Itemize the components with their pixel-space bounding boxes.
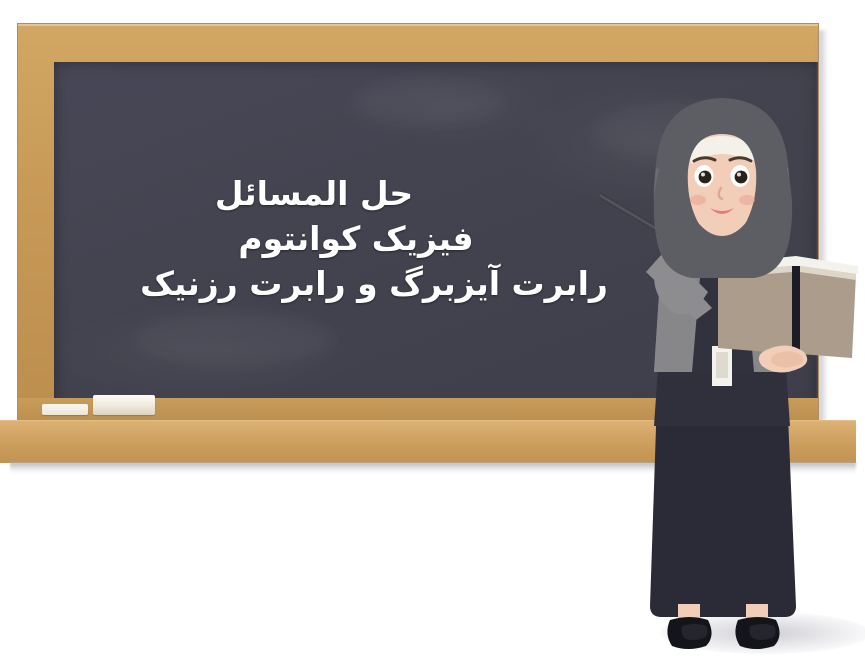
eraser-icon [42,404,88,415]
chalk-smudge [134,312,334,367]
title-line-3: رابرت آیزبرگ و رابرت رزنیک [94,262,654,307]
cover-illustration: حل المسائل فیزیک کوانتوم رابرت آیزبرگ و … [0,0,865,668]
title-line-2: فیزیک کوانتوم [94,217,654,262]
blush-left [690,195,706,205]
blush-right [739,195,755,205]
title-line-1: حل المسائل [94,172,654,217]
chalk-block-icon [93,395,155,415]
chalk-smudge [354,80,504,125]
chalkboard-title-text: حل المسائل فیزیک کوانتوم رابرت آیزبرگ و … [94,172,654,307]
teacher-figure [600,96,865,668]
